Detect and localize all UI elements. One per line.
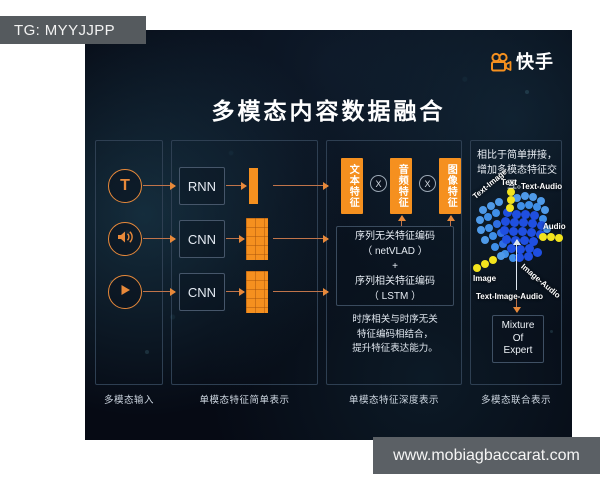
- arrow-encoder-to-image-feature: [450, 216, 451, 226]
- cloud-dot: [541, 206, 549, 214]
- arrow-encoder-to-audio-feature: [401, 216, 402, 226]
- moe-line-3: Expert: [504, 345, 533, 356]
- cloud-label-image: Image: [473, 274, 496, 283]
- moe-line-1: Mixture: [502, 320, 535, 331]
- cloud-dot: [485, 224, 493, 232]
- arrow-rnn-to-feature: [226, 185, 246, 186]
- cloud-dot: [510, 218, 519, 227]
- cloud-dot: [502, 235, 511, 244]
- cloud-dot: [518, 227, 527, 236]
- input-icon-text: T: [108, 169, 142, 203]
- cloud-dot-image: [481, 260, 489, 268]
- cloud-dot: [477, 226, 485, 234]
- mixture-of-expert-box: Mixture Of Expert: [492, 315, 544, 363]
- operator-multiply-2: X: [419, 175, 436, 192]
- arrow-input-to-rnn: [143, 185, 175, 186]
- cloud-dot: [476, 216, 484, 224]
- arrow-feature-audio-to-encoder: [273, 238, 328, 239]
- presentation-slide: 快手 多模态内容数据融合 T RNN CNN C: [85, 30, 572, 440]
- moe-line-2: Of: [513, 333, 524, 344]
- cloud-dot-audio: [547, 233, 555, 241]
- video-play-icon: [117, 282, 133, 303]
- arrow-input-to-cnn-1: [143, 238, 175, 239]
- fusion-feature-text: 文本特征: [341, 158, 363, 214]
- cloud-dot-image: [473, 264, 481, 272]
- arrow-feature-video-to-encoder: [273, 291, 328, 292]
- cloud-pointer-line: [516, 240, 517, 290]
- cloud-dot: [519, 218, 528, 227]
- site-watermark: www.mobiagbaccarat.com: [373, 437, 600, 474]
- encoder-note: 时序相关与时序无关 特征编码相结合， 提升特征表达能力。: [334, 313, 456, 357]
- feature-block-text: [249, 168, 258, 204]
- operator-label: X: [424, 179, 430, 189]
- cloud-dot: [509, 227, 518, 236]
- kuaishou-camera-icon: [490, 52, 512, 72]
- cloud-dot: [497, 252, 505, 260]
- feature-block-video: [246, 271, 268, 313]
- cloud-dot: [493, 220, 501, 228]
- encoder-line-3: +: [392, 259, 398, 274]
- brand-name: 快手: [516, 53, 554, 71]
- network-box-cnn-2: CNN: [179, 273, 225, 311]
- cloud-dot: [489, 232, 497, 240]
- cloud-label-text-audio: Text-Audio: [521, 182, 562, 191]
- cloud-label-text-image-audio: Text-Image-Audio: [476, 292, 543, 301]
- cloud-dot: [524, 252, 533, 261]
- network-label: RNN: [188, 179, 216, 194]
- arrow-feature-text-to-fusion: [273, 185, 328, 186]
- input-icon-audio: [108, 222, 142, 256]
- cloud-dot: [521, 192, 529, 200]
- audio-speaker-icon: [116, 229, 135, 250]
- cloud-dot: [495, 198, 503, 206]
- cloud-dot: [501, 217, 510, 226]
- network-label: CNN: [188, 285, 216, 300]
- fusion-feature-label: 文本特征: [347, 164, 358, 208]
- cloud-dot: [491, 243, 499, 251]
- arrow-input-to-cnn-2: [143, 291, 175, 292]
- text-t-icon: T: [120, 178, 130, 194]
- cloud-dot: [492, 209, 500, 217]
- input-icon-video: [108, 275, 142, 309]
- caption-joint-representation: 多模态联合表示: [470, 392, 562, 406]
- network-box-cnn-1: CNN: [179, 220, 225, 258]
- feature-block-audio: [246, 218, 268, 260]
- cloud-dot: [533, 248, 542, 257]
- brand-logo: 快手: [490, 52, 554, 72]
- arrow-cnn1-to-feature: [226, 238, 244, 239]
- cloud-dot-text: [506, 204, 514, 212]
- encoder-line-4: 序列相关特征编码: [355, 274, 435, 289]
- cloud-dot: [528, 219, 537, 228]
- page-title: 多模态内容数据融合: [85, 92, 572, 126]
- fusion-feature-audio: 音频特征: [390, 158, 412, 214]
- cloud-dot: [533, 203, 541, 211]
- network-label: CNN: [188, 232, 216, 247]
- cloud-dot-audio: [539, 233, 547, 241]
- network-box-rnn: RNN: [179, 167, 225, 205]
- caption-multimodal-input: 多模态输入: [89, 392, 169, 406]
- encoder-line-1: 序列无关特征编码: [355, 229, 435, 244]
- encoder-line-5: （ LSTM ）: [369, 289, 421, 304]
- cloud-dot: [525, 201, 533, 209]
- encoder-line-2: （ netVLAD ）: [362, 244, 428, 259]
- encoder-box: 序列无关特征编码 （ netVLAD ） + 序列相关特征编码 （ LSTM ）: [336, 226, 454, 306]
- cloud-dot: [507, 244, 516, 253]
- arrow-cnn2-to-feature: [226, 291, 244, 292]
- cloud-dot: [481, 236, 489, 244]
- cloud-dot: [517, 202, 525, 210]
- cloud-dot: [500, 226, 509, 235]
- fusion-feature-label: 音频特征: [396, 164, 407, 208]
- cloud-dot: [484, 213, 492, 221]
- cloud-label-audio: Audio: [543, 222, 566, 231]
- cloud-dot: [527, 228, 536, 237]
- caption-simple-representation: 单模态特征简单表示: [171, 392, 318, 406]
- cloud-label-text: Text: [501, 178, 517, 187]
- cloud-dot-text: [507, 196, 515, 204]
- cloud-dot-audio: [555, 234, 563, 242]
- operator-label: X: [375, 179, 381, 189]
- cloud-dot-image: [489, 256, 497, 264]
- tg-tag-overlay: TG: MYYJJPP: [0, 16, 146, 44]
- fusion-feature-image: 图像特征: [439, 158, 461, 214]
- caption-deep-representation: 单模态特征深度表示: [326, 392, 462, 406]
- fusion-feature-label: 图像特征: [445, 164, 456, 208]
- cloud-dot: [529, 193, 537, 201]
- operator-multiply-1: X: [370, 175, 387, 192]
